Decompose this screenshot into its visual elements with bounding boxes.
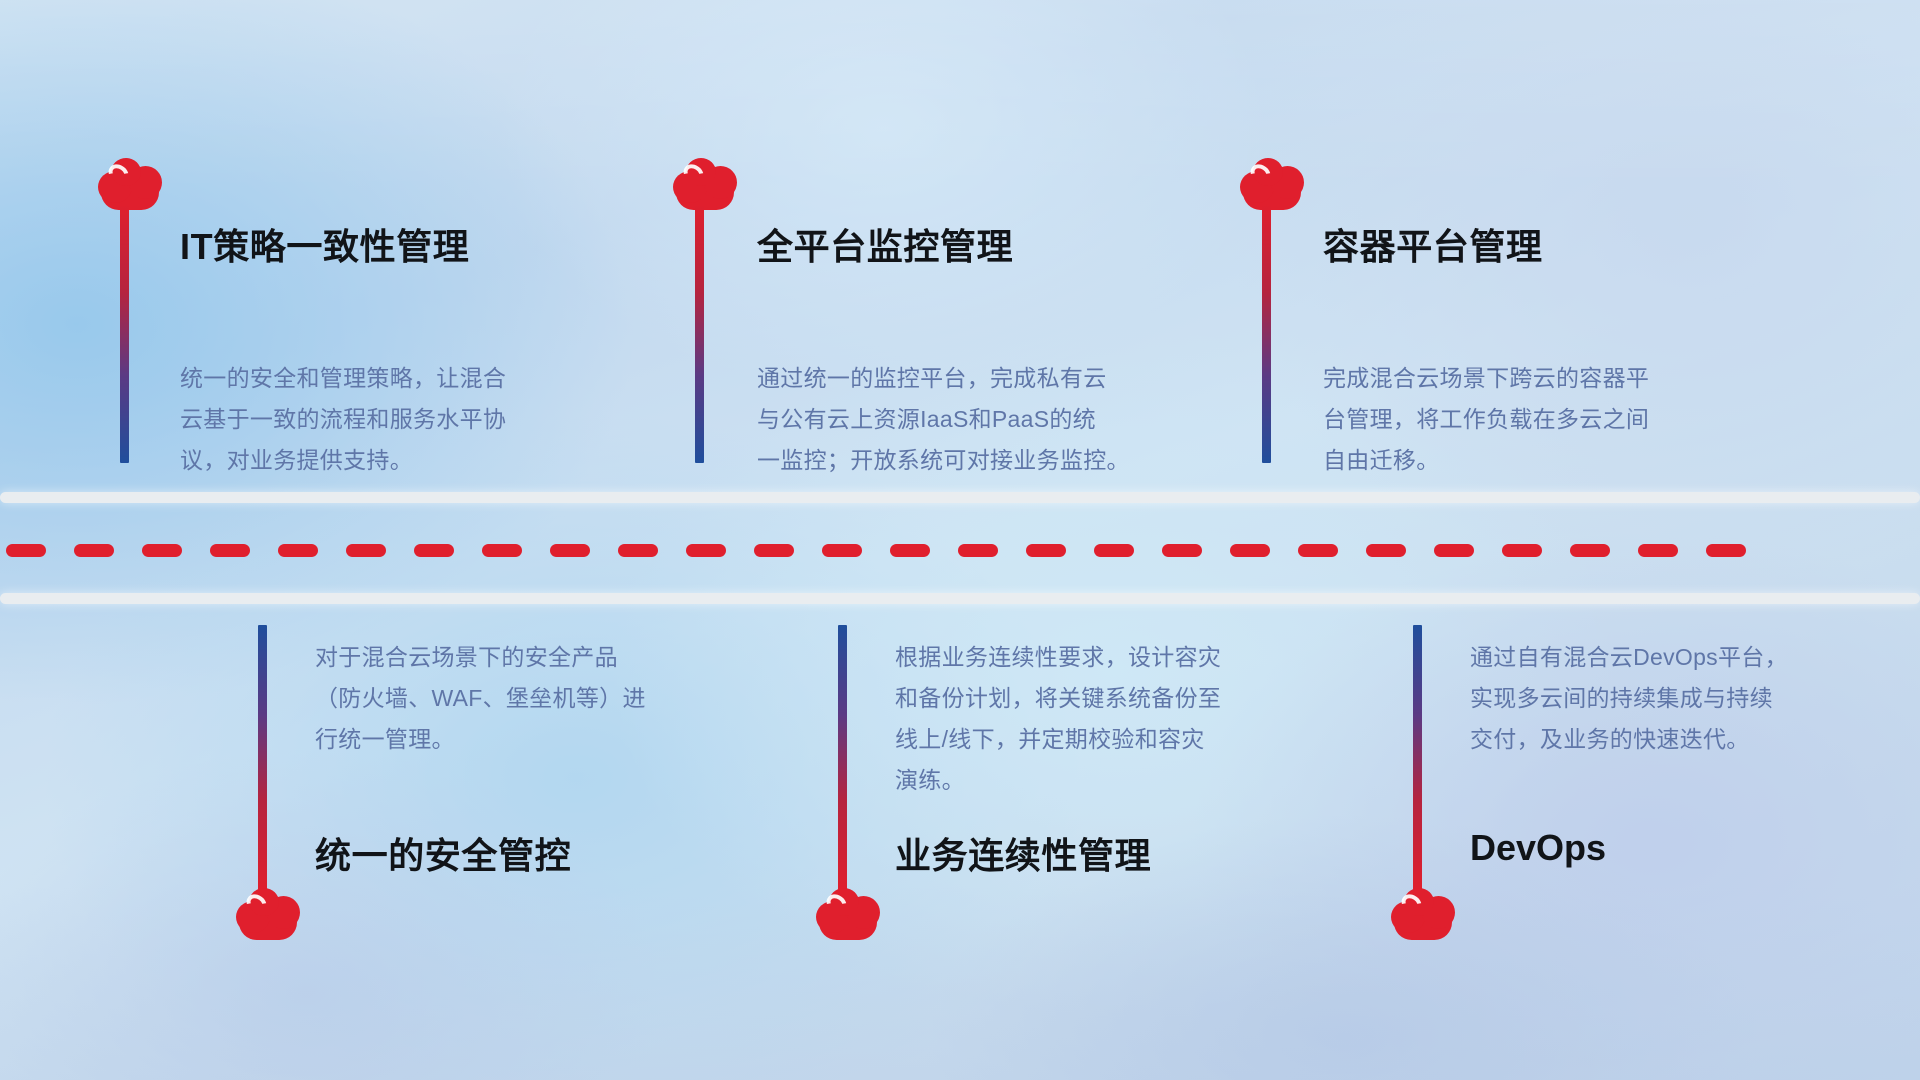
- node-title-3: 容器平台管理: [1323, 218, 1543, 270]
- node-body-3: 完成混合云场景下跨云的容器平 台管理，将工作负载在多云之间 自由迁移。: [1323, 358, 1763, 481]
- node-body-5: 根据业务连续性要求，设计容灾 和备份计划，将关键系统备份至 线上/线下，并定期校…: [895, 637, 1325, 801]
- node-body-4: 对于混合云场景下的安全产品 （防火墙、WAF、堡垒机等）进 行统一管理。: [315, 637, 745, 760]
- divider-dash: [1434, 544, 1474, 557]
- node-body-2: 通过统一的监控平台，完成私有云 与公有云上资源IaaS和PaaS的统 一监控；开…: [757, 358, 1217, 481]
- divider-dash: [1570, 544, 1610, 557]
- divider-dash: [482, 544, 522, 557]
- divider-dash: [414, 544, 454, 557]
- divider-dash: [686, 544, 726, 557]
- cloud-icon: [233, 888, 303, 940]
- divider-dash: [1638, 544, 1678, 557]
- divider-dash: [210, 544, 250, 557]
- divider-rule-bottom: [0, 593, 1920, 604]
- divider-dash: [1298, 544, 1338, 557]
- connector-stem-1: [120, 205, 129, 463]
- divider-dash: [1502, 544, 1542, 557]
- divider-dash: [278, 544, 318, 557]
- divider-dash: [890, 544, 930, 557]
- connector-stem-5: [838, 625, 847, 890]
- divider-dash: [346, 544, 386, 557]
- connector-stem-4: [258, 625, 267, 890]
- divider-dashed-line: [0, 543, 1920, 557]
- node-title-4: 统一的安全管控: [315, 827, 571, 879]
- node-title-5: 业务连续性管理: [895, 827, 1151, 879]
- divider-dash: [822, 544, 862, 557]
- node-body-1: 统一的安全和管理策略，让混合 云基于一致的流程和服务水平协 议，对业务提供支持。: [180, 358, 610, 481]
- divider-dash: [6, 544, 46, 557]
- cloud-icon: [1388, 888, 1458, 940]
- divider-dash: [142, 544, 182, 557]
- divider-dash: [1094, 544, 1134, 557]
- connector-stem-2: [695, 205, 704, 463]
- divider-dash: [1162, 544, 1202, 557]
- connector-stem-3: [1262, 205, 1271, 463]
- node-body-6: 通过自有混合云DevOps平台， 实现多云间的持续集成与持续 交付，及业务的快速…: [1470, 637, 1900, 760]
- divider-dash: [1366, 544, 1406, 557]
- divider-dash: [618, 544, 658, 557]
- cloud-icon: [1237, 158, 1307, 210]
- divider-dash: [1230, 544, 1270, 557]
- divider-dash: [1026, 544, 1066, 557]
- cloud-icon: [670, 158, 740, 210]
- divider-dash: [74, 544, 114, 557]
- divider-dash: [1706, 544, 1746, 557]
- node-title-1: IT策略一致性管理: [180, 218, 469, 270]
- node-title-2: 全平台监控管理: [757, 218, 1013, 270]
- divider-dash: [550, 544, 590, 557]
- connector-stem-6: [1413, 625, 1422, 890]
- cloud-icon: [813, 888, 883, 940]
- divider-rule-top: [0, 492, 1920, 503]
- divider-dash: [958, 544, 998, 557]
- node-title-6: DevOps: [1470, 827, 1606, 869]
- divider-dash: [754, 544, 794, 557]
- cloud-icon: [95, 158, 165, 210]
- infographic-canvas: IT策略一致性管理 统一的安全和管理策略，让混合 云基于一致的流程和服务水平协 …: [0, 0, 1920, 1080]
